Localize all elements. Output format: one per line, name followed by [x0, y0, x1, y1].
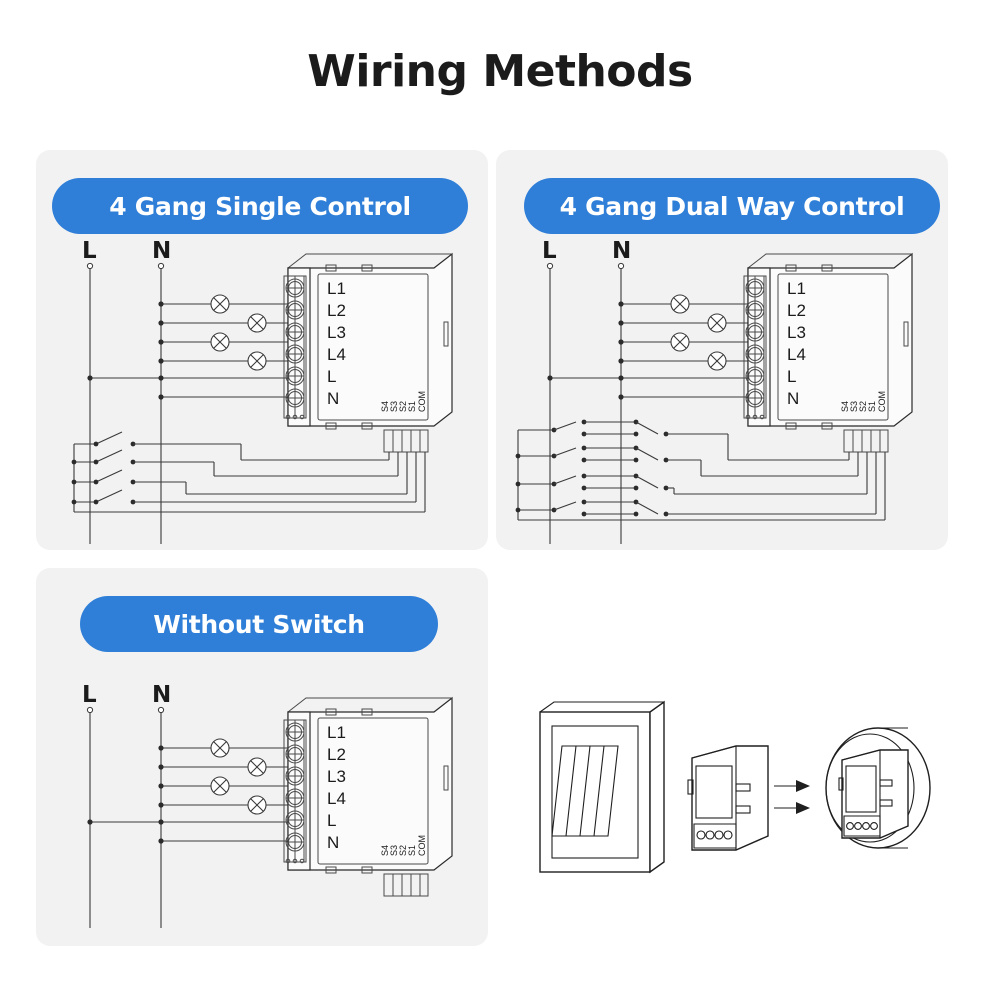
svg-text:S1: S1	[407, 401, 417, 412]
badge-dual-way-control[interactable]: 4 Gang Dual Way Control	[524, 178, 940, 234]
lamp-icon-4	[708, 352, 726, 370]
supply-lines-dual	[547, 263, 762, 544]
svg-text:COM: COM	[417, 391, 427, 412]
two-way-pair-4	[516, 452, 876, 516]
svg-text:COM: COM	[417, 835, 427, 856]
lamp-icon-2	[248, 758, 266, 776]
diagram-single-control: L N	[36, 244, 488, 544]
badge-single-control[interactable]: 4 Gang Single Control	[52, 178, 468, 234]
lamp-icon-3	[211, 777, 229, 795]
svg-text:L4: L4	[787, 345, 806, 364]
supply-label-l: L	[542, 238, 557, 264]
supply-label-n: N	[612, 238, 631, 264]
svg-text:COM: COM	[877, 391, 887, 412]
diagram-without-switch: L N	[36, 688, 488, 928]
svg-text:L: L	[327, 367, 336, 386]
lamp-icon-2	[708, 314, 726, 332]
supply-label-l: L	[82, 682, 97, 708]
lamp-icon-2	[248, 314, 266, 332]
switch-2	[72, 450, 398, 476]
lamp-icon-4	[248, 352, 266, 370]
switch-1	[94, 432, 389, 460]
svg-text:S1: S1	[407, 845, 417, 856]
install-arrows	[774, 780, 810, 814]
connector-noswitch	[384, 874, 428, 896]
svg-text:N: N	[327, 389, 339, 408]
installation-illustration	[496, 688, 948, 918]
svg-text:L1: L1	[327, 279, 346, 298]
module-inserted	[839, 750, 908, 838]
connector-single	[384, 430, 428, 452]
svg-text:L4: L4	[327, 789, 346, 808]
svg-text:L3: L3	[327, 767, 346, 786]
lamp-icon-3	[211, 333, 229, 351]
svg-text:L3: L3	[327, 323, 346, 342]
svg-text:N: N	[327, 833, 339, 852]
wall-back-box	[826, 728, 930, 848]
svg-text:L: L	[787, 367, 796, 386]
two-way-pair-3	[516, 452, 867, 494]
wall-switch-plate	[540, 702, 664, 872]
svg-text:L2: L2	[327, 745, 346, 764]
lamp-icon-3	[671, 333, 689, 351]
switch-3	[72, 452, 407, 494]
connector-dual	[844, 430, 888, 452]
svg-text:L1: L1	[327, 723, 346, 742]
svg-text:L2: L2	[327, 301, 346, 320]
switch-bank-single	[72, 432, 425, 512]
supply-lines-noswitch	[87, 707, 302, 928]
switch-bank-dual	[516, 420, 885, 520]
svg-text:L2: L2	[787, 301, 806, 320]
svg-text:N: N	[787, 389, 799, 408]
lamp-circuits-single	[158, 295, 302, 400]
page-title: Wiring Methods	[0, 46, 1000, 97]
lamp-circuits-dual	[618, 295, 762, 400]
svg-text:S1: S1	[867, 401, 877, 412]
svg-text:L3: L3	[787, 323, 806, 342]
supply-label-l: L	[82, 238, 97, 264]
relay-module-3d	[688, 746, 768, 850]
lamp-icon-1	[671, 295, 689, 313]
svg-text:L4: L4	[327, 345, 346, 364]
badge-without-switch[interactable]: Without Switch	[80, 596, 438, 652]
svg-text:L: L	[327, 811, 336, 830]
svg-text:L1: L1	[787, 279, 806, 298]
lamp-icon-4	[248, 796, 266, 814]
lamp-icon-1	[211, 739, 229, 757]
wiring-methods-page: Wiring Methods 4 Gang Single Control L N	[0, 0, 1000, 1000]
supply-label-n: N	[152, 682, 171, 708]
lamp-circuits-noswitch	[158, 739, 302, 844]
lamp-icon-1	[211, 295, 229, 313]
two-way-pair-2	[516, 446, 858, 476]
supply-label-n: N	[152, 238, 171, 264]
diagram-dual-way-control: L N	[496, 244, 948, 544]
